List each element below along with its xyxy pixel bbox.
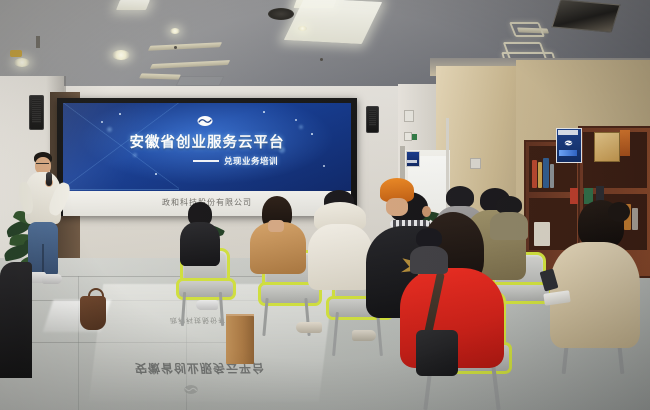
wall-switch[interactable] [404,132,412,141]
attendee-hair-bun [608,202,630,222]
slide-star [119,113,121,115]
downlight [298,26,307,31]
ring-light [509,22,545,37]
framed-picture [594,132,620,162]
attendee-shoe [196,300,218,310]
wall-plate [470,158,481,169]
slide-star [155,173,157,175]
slide-triangle-top [63,189,179,190]
brown-leather-handbag[interactable] [80,296,106,330]
attendee-far-left-dark [0,262,34,382]
ceiling-hook [36,36,40,48]
presenter-shoe-right [42,274,62,284]
handheld-microphone [46,172,52,186]
sprinkler-head [320,58,323,61]
downlight [14,58,30,67]
seminar-photo-scene: 安徽省创业服务云平台 兑现业务培训 政和科技股份有限公司 政和科技股份有限公司 … [0,0,650,410]
attendee-torso [0,262,32,378]
attendee-torso [490,212,528,240]
attendee-neck [268,220,284,232]
attendee-beige-sweater [548,200,650,354]
presenter-glasses [36,163,49,167]
downlight [170,28,180,34]
attendee-shoe [352,330,376,341]
projection-slide: 安徽省创业服务云平台 兑现业务培训 [63,103,351,191]
speaker-mesh [32,99,41,123]
ceiling-fixture [10,50,22,57]
slide-bokeh [299,125,303,129]
slide-star [295,119,297,121]
downlight [112,50,130,60]
book [538,162,542,188]
ceiling-vent [268,8,294,20]
ceiling-vent [551,0,620,33]
wall-sign [406,151,420,167]
speaker-mesh [369,110,376,126]
attendee-torso [180,222,220,266]
book [550,164,554,188]
attendee-hair [416,228,442,248]
wall-switch[interactable] [412,134,417,140]
poster-logo-icon [564,140,573,146]
attendee-back-row-right [490,196,530,240]
slide-subtitle-rule [193,160,219,162]
slide-bokeh [133,153,137,157]
wall-speaker-left [29,95,44,130]
floor-reflection-title-text: 安徽省创业服务云平台 [89,360,311,377]
floor-seam [78,276,79,410]
shelf-item-red [620,130,630,156]
wall-sign-label [407,160,417,163]
ceiling-vent [176,76,225,86]
attendee-shoe [296,322,322,333]
poster-graphic-bar [559,150,577,156]
black-backpack[interactable] [416,330,458,376]
attendee-torso [410,246,448,274]
slide-subtitle-group: 兑现业务培训 [193,155,343,167]
circular-wave-logo-reflected-icon [183,384,199,395]
slide-star [101,121,103,123]
book [543,158,549,188]
attendee-black-jacket [176,202,224,272]
slide-title: 安徽省创业服务云平台 [63,131,351,152]
wall-box [404,110,414,122]
attendee-torso [308,224,372,290]
poster-header-band [558,130,578,135]
slide-star [263,111,265,113]
tan-paper-shopping-bag[interactable] [226,316,254,364]
circular-wave-logo-icon [196,115,214,127]
slide-subtitle: 兑现业务培训 [224,155,278,167]
sprinkler-head [174,46,177,49]
attendee-tan-coat [248,196,310,282]
wall-speaker-right [366,106,379,133]
attendee-back-row-left [410,228,450,274]
panel-light [116,0,150,10]
book [532,160,537,188]
